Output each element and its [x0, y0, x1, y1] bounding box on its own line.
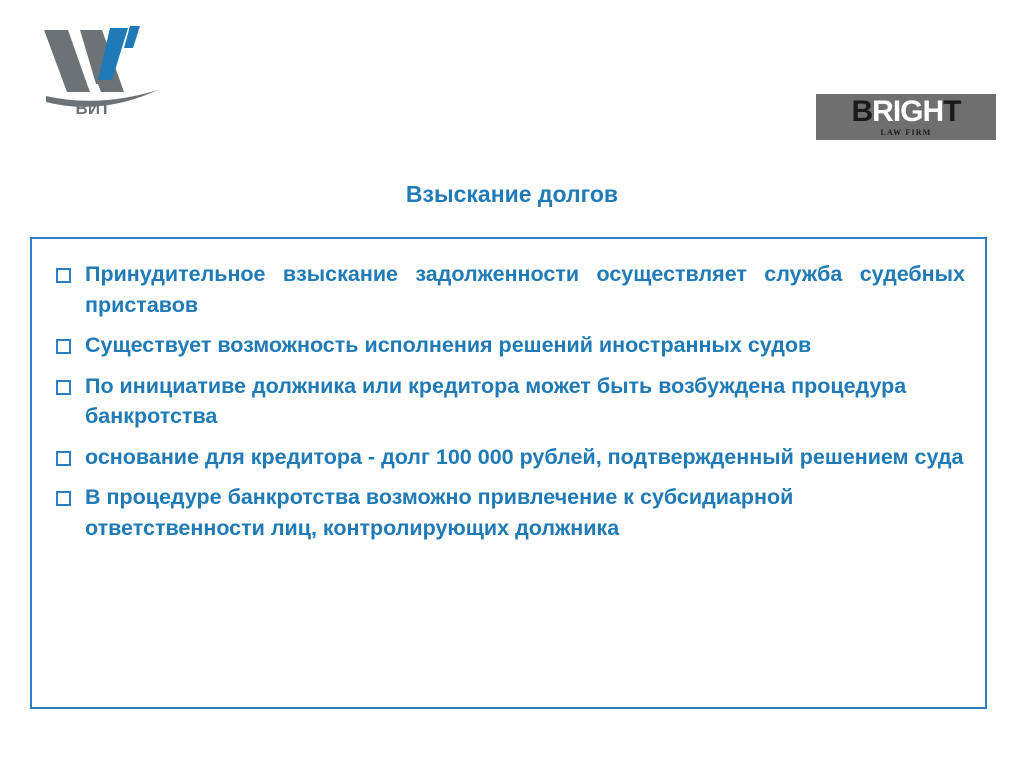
square-bullet-icon [56, 339, 71, 354]
vit-logo: ВИТ [38, 22, 168, 117]
list-item: Принудительное взыскание задолженности о… [56, 259, 965, 320]
bullet-list: Принудительное взыскание задолженности о… [56, 259, 965, 543]
bright-law-firm-logo: BRIGHT LAW FIRM [816, 94, 996, 140]
bright-word-part1: B [852, 95, 873, 128]
list-item-text: По инициативе должника или кредитора мож… [85, 371, 965, 432]
square-bullet-icon [56, 491, 71, 506]
bright-word-highlight: RIGH [872, 95, 943, 128]
bright-word-part2: T [943, 95, 960, 128]
list-item-text: В процедуре банкротства возможно привлеч… [85, 482, 965, 543]
list-item-text: Существует возможность исполнения решени… [85, 330, 965, 361]
page-title: Взыскание долгов [0, 181, 1024, 208]
content-box: Принудительное взыскание задолженности о… [30, 237, 987, 709]
list-item-text: основание для кредитора - долг 100 000 р… [85, 442, 965, 473]
square-bullet-icon [56, 268, 71, 283]
square-bullet-icon [56, 380, 71, 395]
bright-wordmark: BRIGHT [852, 97, 961, 127]
list-item: По инициативе должника или кредитора мож… [56, 371, 965, 432]
bright-subtitle: LAW FIRM [880, 128, 931, 137]
list-item: Существует возможность исполнения решени… [56, 330, 965, 361]
square-bullet-icon [56, 451, 71, 466]
list-item-text: Принудительное взыскание задолженности о… [85, 259, 965, 320]
vit-logo-wordmark: ВИТ [76, 99, 111, 117]
list-item: основание для кредитора - долг 100 000 р… [56, 442, 965, 473]
list-item: В процедуре банкротства возможно привлеч… [56, 482, 965, 543]
